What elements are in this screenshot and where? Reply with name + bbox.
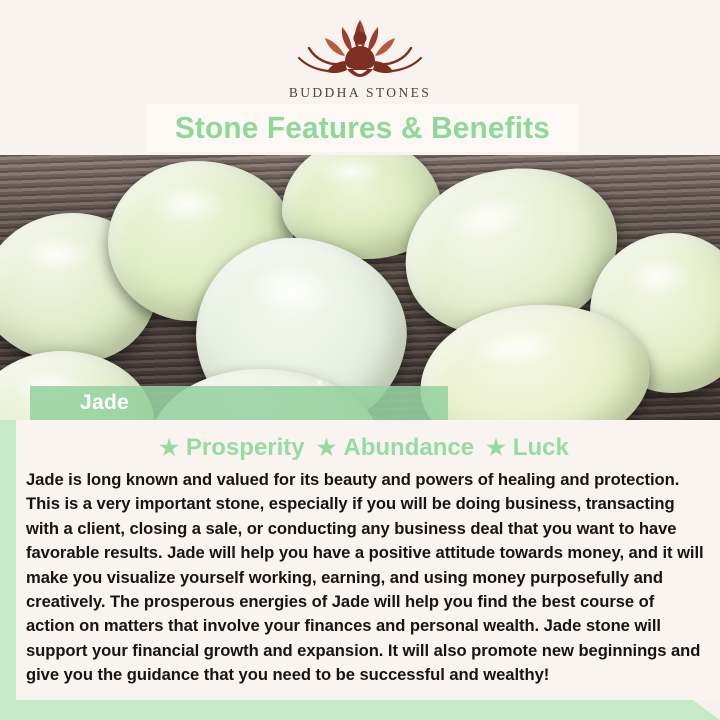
benefit-item-luck: ★ Luck xyxy=(486,434,569,462)
sparkle xyxy=(318,381,321,384)
benefits-row: ★ Prosperity ★ Abundance ★ Luck xyxy=(18,434,710,462)
title-banner: Stone Features & Benefits xyxy=(146,104,578,152)
star-icon: ★ xyxy=(159,437,179,459)
benefit-label: Prosperity xyxy=(186,434,305,462)
brand-logo: BUDDHA STONES xyxy=(0,14,720,101)
benefit-label: Luck xyxy=(513,434,569,462)
description-panel: ★ Prosperity ★ Abundance ★ Luck Jade is … xyxy=(16,420,720,700)
stone-name-band: Jade xyxy=(30,386,448,420)
description-text: Jade is long known and valued for its be… xyxy=(18,468,710,688)
lotus-meditation-icon xyxy=(285,14,435,82)
benefit-item-abundance: ★ Abundance xyxy=(317,434,474,462)
star-icon: ★ xyxy=(317,437,337,459)
brand-name: BUDDHA STONES xyxy=(289,85,431,101)
benefit-item-prosperity: ★ Prosperity xyxy=(159,434,304,462)
decor-bottom-bar xyxy=(0,698,720,720)
stone-name-label: Jade xyxy=(80,391,129,415)
page-title: Stone Features & Benefits xyxy=(174,110,549,146)
benefit-label: Abundance xyxy=(343,434,474,462)
star-icon: ★ xyxy=(486,437,506,459)
decor-left-strip xyxy=(0,410,16,700)
stone-photo xyxy=(0,155,720,420)
